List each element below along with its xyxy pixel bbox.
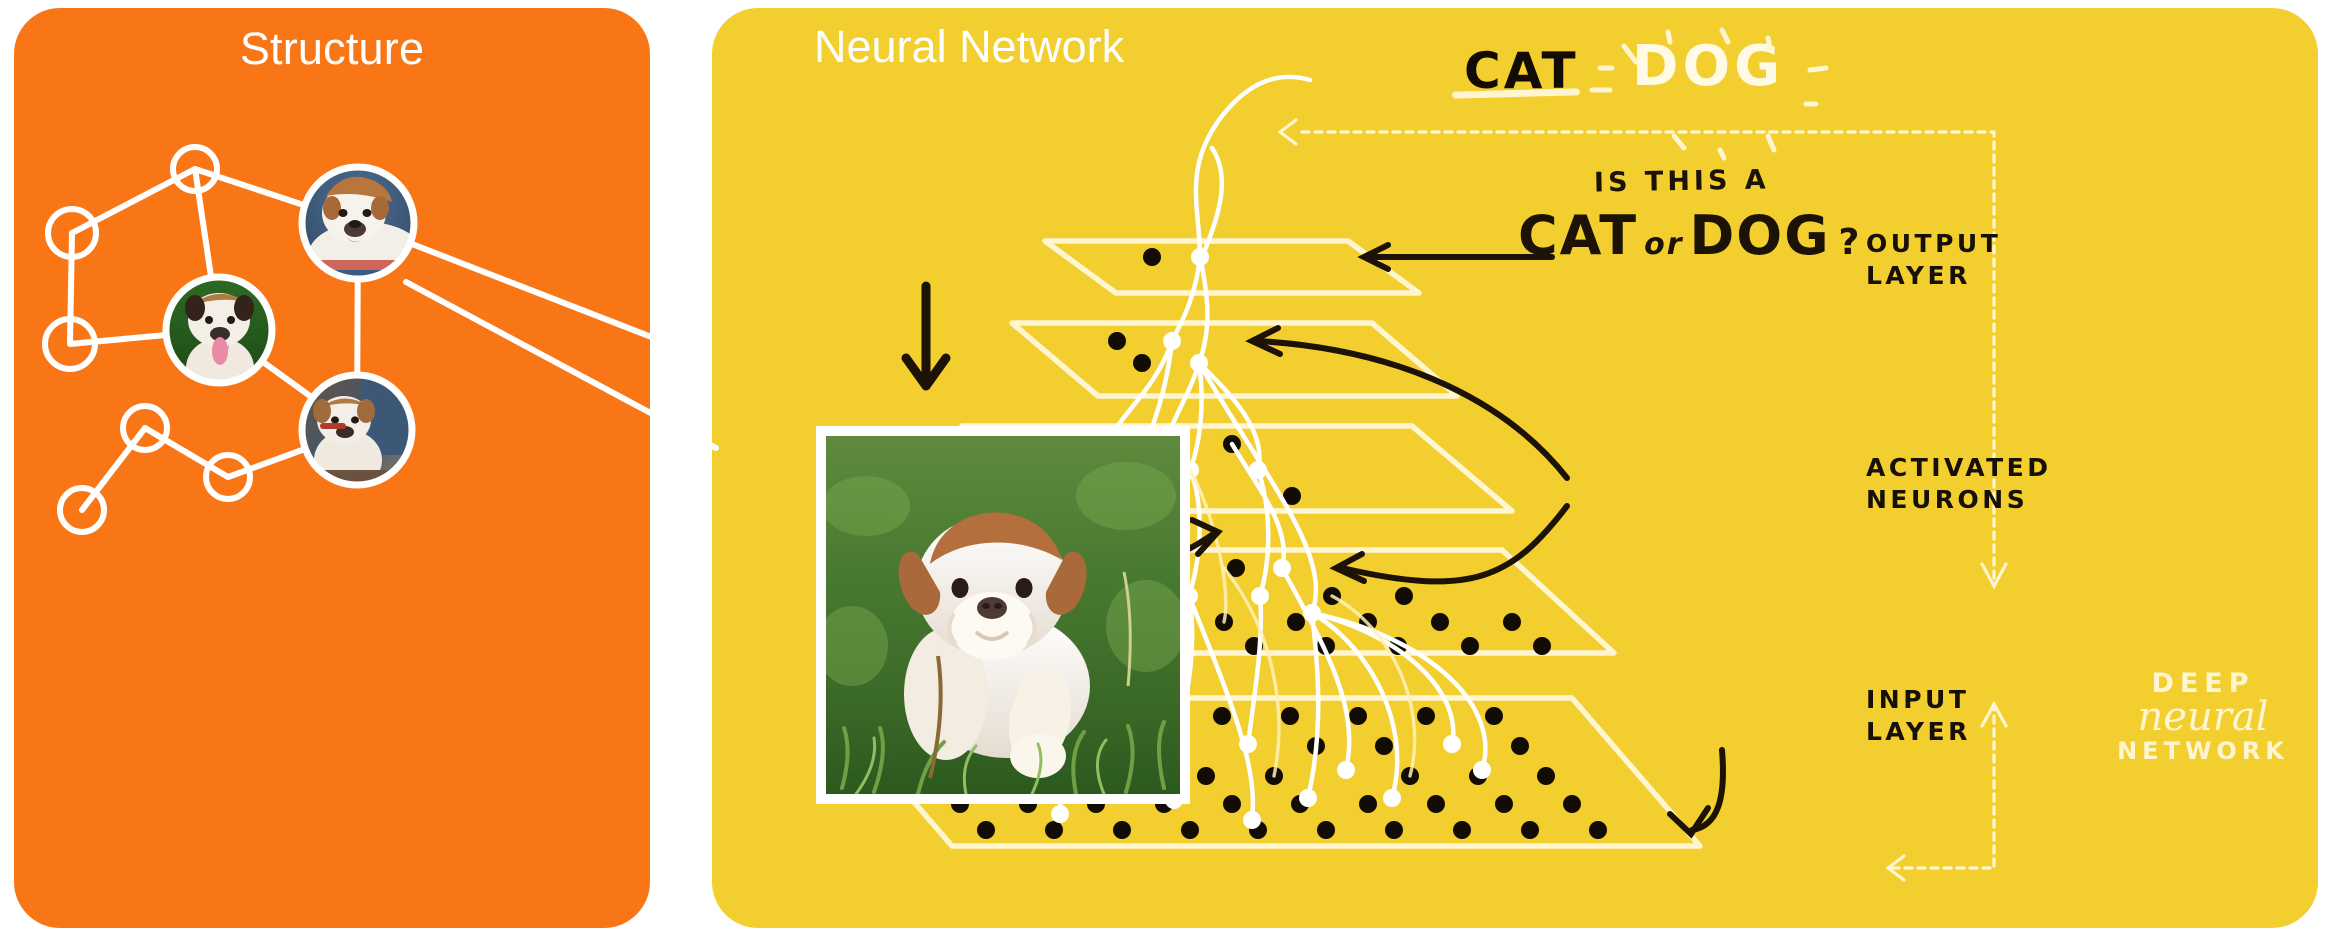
input-photo [826, 436, 1180, 794]
output-layer-label-line1: OUTPUT [1866, 228, 2001, 260]
input-photo-frame[interactable] [816, 426, 1190, 804]
activated-neurons-label-line1: ACTIVATED [1866, 452, 2052, 484]
structure-graph [14, 8, 650, 928]
structure-panel: Structure [14, 8, 650, 928]
output-layer-label-line2: LAYER [1866, 260, 2001, 292]
neural-network-panel: Neural Network .plane{ fill:none; stroke… [712, 8, 2318, 928]
bulldog-puppy-illustration [826, 436, 1180, 794]
deep-neural-network-label: DEEP neural NETWORK [2092, 668, 2314, 765]
activated-neurons-label-line2: NEURONS [1866, 484, 2052, 516]
input-layer-label-line1: INPUT [1866, 684, 1971, 716]
activated-neurons-label: ACTIVATED NEURONS [1866, 452, 2052, 516]
output-layer-label: OUTPUT LAYER [1866, 228, 2001, 292]
input-layer-label-line2: LAYER [1866, 716, 1971, 748]
structure-photo-node-bulldog-grass[interactable] [166, 277, 272, 398]
deep-label-line2: neural [2092, 697, 2314, 739]
poster-stage: Structure [0, 0, 2330, 936]
input-layer-label: INPUT LAYER [1866, 684, 1971, 748]
structure-photo-node-bulldog-mat[interactable] [302, 167, 424, 290]
deep-label-line3: NETWORK [2092, 737, 2314, 765]
structure-photo-node-bulldog-puppy[interactable] [302, 375, 412, 490]
